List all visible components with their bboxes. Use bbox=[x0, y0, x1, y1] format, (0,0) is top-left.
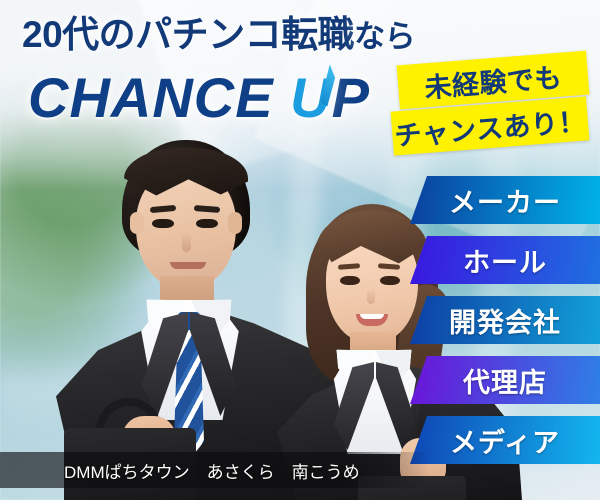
credit-text: DMMぱちタウン あさくら 南こうめ bbox=[0, 458, 360, 483]
category-button-media[interactable]: メディア bbox=[410, 416, 600, 464]
chance-up-logo: CHANCE UP bbox=[28, 70, 370, 126]
category-button-list: メーカー ホール 開発会社 代理店 メディア bbox=[410, 176, 600, 476]
man-ear-left bbox=[130, 212, 144, 234]
woman-eye-left bbox=[340, 276, 360, 285]
category-label-agency: 代理店 bbox=[463, 361, 547, 400]
man-eye-right bbox=[196, 219, 218, 228]
credit-bar: DMMぱちタウン あさくら 南こうめ bbox=[0, 452, 430, 488]
category-label-hall: ホール bbox=[463, 241, 547, 280]
woman-eye-right bbox=[380, 276, 400, 285]
category-label-media: メディア bbox=[450, 421, 560, 460]
category-button-developer[interactable]: 開発会社 bbox=[410, 296, 600, 344]
badge-no-experience-label: 未経験でも bbox=[423, 55, 563, 105]
woman-teeth bbox=[360, 314, 384, 319]
logo-letter-u: U bbox=[290, 70, 331, 126]
woman-nose bbox=[367, 288, 375, 304]
category-button-maker[interactable]: メーカー bbox=[410, 176, 600, 224]
man-mouth bbox=[170, 262, 206, 269]
headline-lead: 20代のパチンコ転職 bbox=[22, 14, 354, 55]
logo-text-part2: P bbox=[332, 66, 370, 129]
man-eye-left bbox=[152, 219, 174, 228]
man-nose bbox=[182, 232, 191, 252]
category-button-agency[interactable]: 代理店 bbox=[410, 356, 600, 404]
category-label-developer: 開発会社 bbox=[449, 301, 561, 340]
logo-text-part1: CHANCE bbox=[28, 66, 290, 129]
category-button-hall[interactable]: ホール bbox=[410, 236, 600, 284]
man-ear-right bbox=[228, 212, 242, 234]
headline-tail: なら bbox=[354, 19, 415, 54]
category-label-maker: メーカー bbox=[449, 181, 561, 220]
pachinko-job-banner: 20代のパチンコ転職なら CHANCE UP 未経験でも チャンスあり！ メーカ… bbox=[0, 0, 600, 500]
banner-headline: 20代のパチンコ転職なら bbox=[22, 16, 415, 53]
